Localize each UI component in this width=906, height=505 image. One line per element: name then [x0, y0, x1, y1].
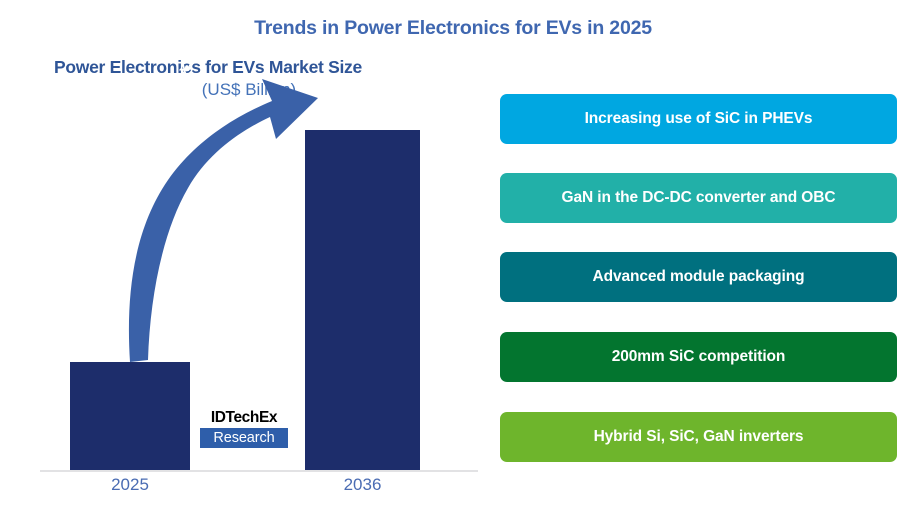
idtechex-logo: IDTechEx Research — [200, 409, 288, 448]
column-bar-2025 — [70, 362, 190, 471]
trend-bar[interactable]: Increasing use of SiC in PHEVs — [500, 94, 897, 144]
x-axis-tick-2036: 2036 — [303, 475, 422, 495]
logo-subbrand: Research — [200, 428, 288, 448]
chart-subtitle-units: (US$ Billion) — [54, 80, 444, 100]
trend-bar[interactable]: 200mm SiC competition — [500, 332, 897, 382]
trend-bar[interactable]: Advanced module packaging — [500, 252, 897, 302]
market-size-chart: Power Electronics for EVs Market Size (U… — [0, 0, 490, 505]
column-bar-2036 — [305, 130, 420, 471]
trend-bar[interactable]: Hybrid Si, SiC, GaN inverters — [500, 412, 897, 462]
chart-title: Power Electronics for EVs Market Size — [54, 57, 444, 78]
trend-bar-label: 200mm SiC competition — [612, 348, 786, 366]
infographic-canvas: Trends in Power Electronics for EVs in 2… — [0, 0, 906, 505]
trend-bar[interactable]: GaN in the DC-DC converter and OBC — [500, 173, 897, 223]
trend-bar-label: Advanced module packaging — [593, 268, 805, 286]
trend-bar-label: Hybrid Si, SiC, GaN inverters — [594, 428, 804, 446]
logo-wordmark: IDTechEx — [200, 409, 288, 426]
trend-bar-label: GaN in the DC-DC converter and OBC — [562, 189, 836, 207]
x-axis-line — [40, 470, 478, 472]
x-axis-tick-2025: 2025 — [70, 475, 190, 495]
trend-bar-label: Increasing use of SiC in PHEVs — [585, 110, 813, 128]
trends-list: Increasing use of SiC in PHEVsGaN in the… — [500, 0, 897, 505]
